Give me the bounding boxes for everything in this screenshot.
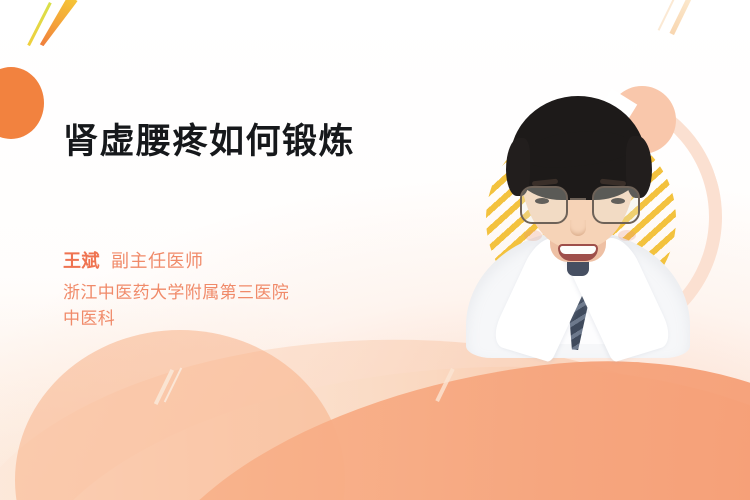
eyeglasses-lens-right (592, 186, 640, 224)
doctor-department: 中医科 (63, 306, 289, 332)
doctor-affiliation: 浙江中医药大学附属第三医院 中医科 (63, 280, 289, 331)
cheek-right (618, 230, 636, 241)
doctor-name-line: 王斌副主任医师 (63, 248, 289, 275)
nose (570, 220, 586, 236)
doctor-job-title: 副主任医师 (111, 251, 204, 271)
eyeglasses-bridge (570, 198, 586, 200)
doctor-portrait (458, 78, 698, 358)
page-title: 肾虚腰疼如何锻炼 (63, 120, 355, 164)
doctor-photo-cluster (440, 78, 720, 368)
doctor-hospital: 浙江中医药大学附属第三医院 (63, 280, 289, 306)
eyeglasses-lens-left (520, 186, 568, 224)
doctor-name: 王斌 (63, 251, 100, 271)
cheek-left (524, 230, 542, 241)
mouth (558, 244, 598, 261)
doctor-video-cover-card: 肾虚腰疼如何锻炼 王斌副主任医师 浙江中医药大学附属第三医院 中医科 (0, 0, 750, 500)
teeth (560, 246, 596, 254)
doctor-credit-block: 王斌副主任医师 浙江中医药大学附属第三医院 中医科 (63, 248, 289, 331)
